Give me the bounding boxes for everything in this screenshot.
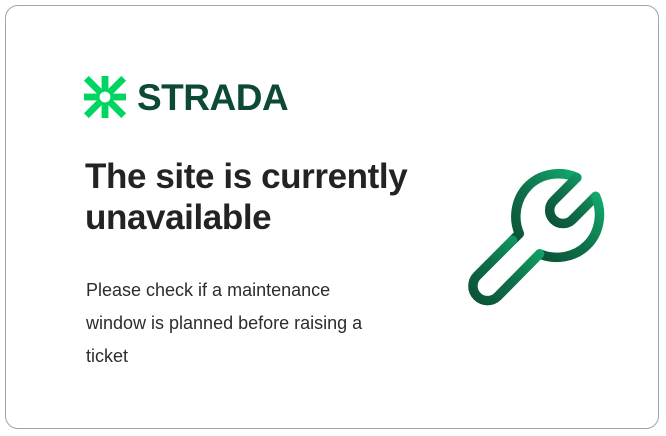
error-page: STRADA The site is currently unavailable…	[0, 0, 666, 436]
brand-logo: STRADA	[84, 75, 288, 119]
strada-asterisk-icon	[84, 76, 126, 118]
status-card: STRADA The site is currently unavailable…	[5, 5, 659, 429]
brand-wordmark: STRADA	[137, 79, 288, 116]
wrench-icon	[464, 165, 612, 313]
page-title: The site is currently unavailable	[85, 156, 425, 238]
page-description: Please check if a maintenance window is …	[86, 274, 386, 373]
